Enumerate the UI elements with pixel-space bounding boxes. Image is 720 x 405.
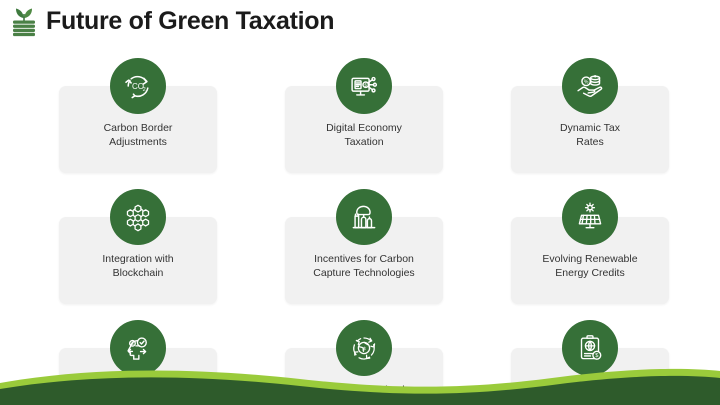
feature-card-label: Carbon Border Adjustments <box>63 122 213 150</box>
feature-card[interactable]: Incentives for Carbon Capture Technologi… <box>285 217 443 304</box>
feature-card-label: Integration with Blockchain <box>63 253 213 281</box>
plant-coins-icon <box>8 4 40 38</box>
solar-panel-icon <box>562 189 618 245</box>
svg-text:%: % <box>584 79 589 85</box>
feature-card[interactable]: Integration with Blockchain <box>59 217 217 304</box>
slide-header: Future of Green Taxation <box>8 4 334 38</box>
hand-coins-icon: % $ <box>562 58 618 114</box>
feature-card[interactable]: % $ Dynamic Tax Rates <box>511 86 669 173</box>
blockchain-nodes-icon <box>110 189 166 245</box>
page-title: Future of Green Taxation <box>46 9 334 34</box>
feature-card[interactable]: Evolving Renewable Energy Credits <box>511 217 669 304</box>
svg-text:$: $ <box>364 83 367 88</box>
svg-text:2: 2 <box>143 87 146 93</box>
slide-canvas: Future of Green Taxation CO 2 Carbon Bor… <box>0 0 720 405</box>
co2-recycle-icon: CO 2 <box>110 58 166 114</box>
bottom-wave-decoration <box>0 345 720 405</box>
feature-card-label: Incentives for Carbon Capture Technologi… <box>289 253 439 281</box>
feature-card-label: Dynamic Tax Rates <box>515 122 665 150</box>
feature-card-label: Evolving Renewable Energy Credits <box>515 253 665 281</box>
factory-smoke-icon <box>336 189 392 245</box>
feature-card[interactable]: $ Digital Economy Taxation <box>285 86 443 173</box>
feature-card[interactable]: CO 2 Carbon Border Adjustments <box>59 86 217 173</box>
feature-card-label: Digital Economy Taxation <box>289 122 439 150</box>
monitor-network-icon: $ <box>336 58 392 114</box>
